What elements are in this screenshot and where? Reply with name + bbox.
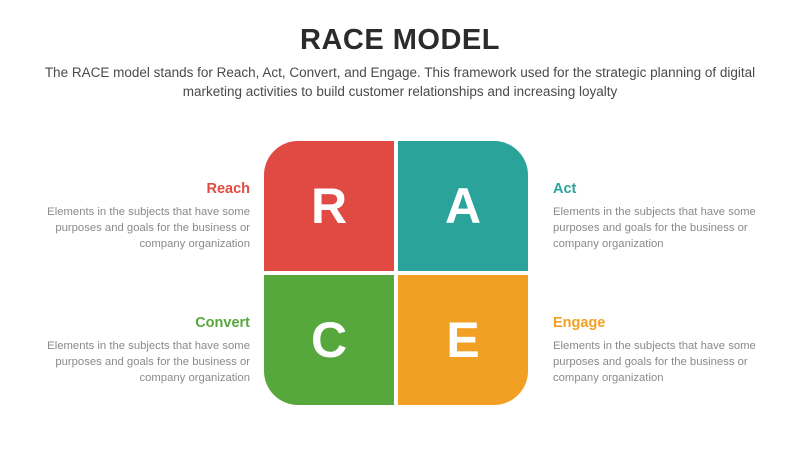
description-engage: Elements in the subjects that have some … — [553, 338, 763, 386]
quadrant-engage[interactable]: E — [398, 275, 528, 405]
quadrant-letter-reach: R — [311, 181, 347, 231]
description-act: Elements in the subjects that have some … — [553, 204, 763, 252]
description-reach: Elements in the subjects that have some … — [40, 204, 250, 252]
text-block-engage: Engage Elements in the subjects that hav… — [553, 315, 763, 386]
text-block-convert: Convert Elements in the subjects that ha… — [40, 315, 250, 386]
text-block-reach: Reach Elements in the subjects that have… — [40, 181, 250, 252]
quadrant-letter-engage: E — [446, 315, 479, 365]
text-block-act: Act Elements in the subjects that have s… — [553, 181, 763, 252]
heading-act: Act — [553, 181, 763, 197]
quadrant-letter-act: A — [445, 181, 481, 231]
race-quadrant-diagram: R A C E — [264, 141, 528, 405]
description-convert: Elements in the subjects that have some … — [40, 338, 250, 386]
quadrant-reach[interactable]: R — [264, 141, 394, 271]
heading-reach: Reach — [40, 181, 250, 197]
quadrant-act[interactable]: A — [398, 141, 528, 271]
page-title: RACE MODEL — [0, 24, 800, 57]
quadrant-letter-convert: C — [311, 315, 347, 365]
heading-engage: Engage — [553, 315, 763, 331]
heading-convert: Convert — [40, 315, 250, 331]
quadrant-convert[interactable]: C — [264, 275, 394, 405]
race-model-infographic: RACE MODEL The RACE model stands for Rea… — [0, 0, 800, 450]
page-subtitle: The RACE model stands for Reach, Act, Co… — [40, 63, 760, 101]
